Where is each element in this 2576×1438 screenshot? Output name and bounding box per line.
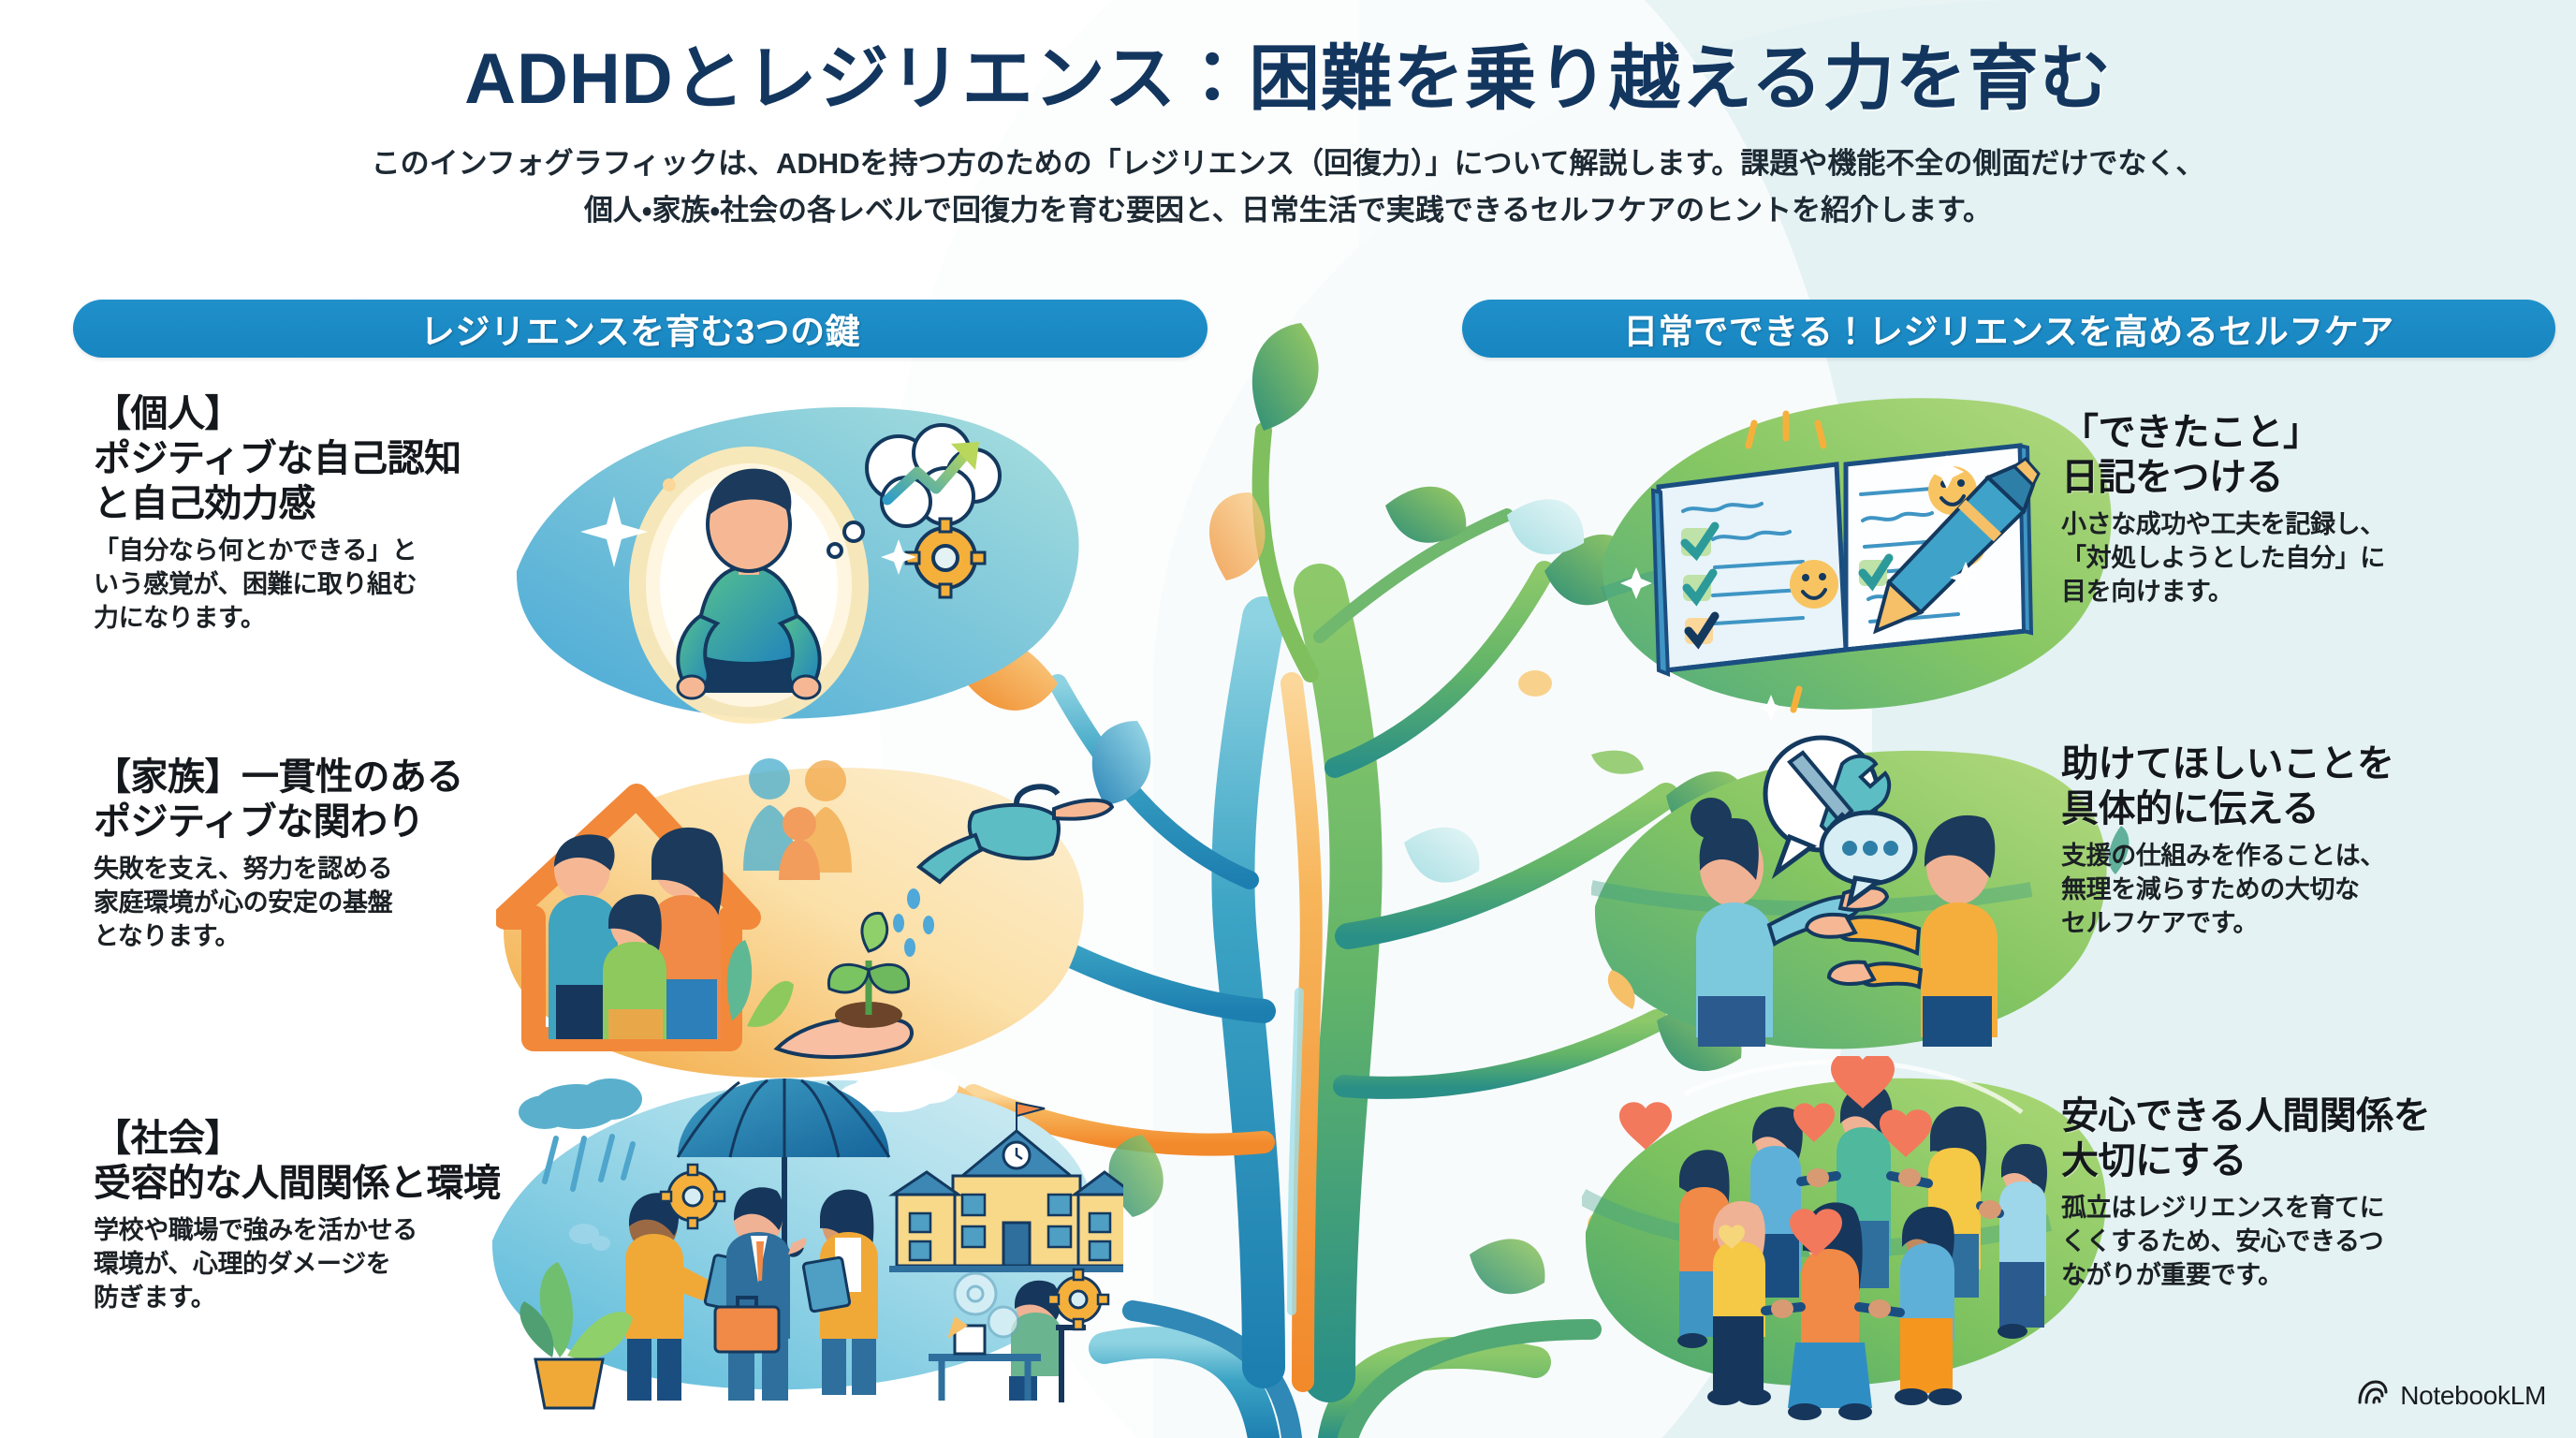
illustration-safe-relationships <box>1582 1056 2144 1421</box>
subtitle-line-1: このインフォグラフィックは、ADHDを持つ方のための「レジリエンス（回復力）」に… <box>202 140 2374 187</box>
card-individual-heading: 【個人】ポジティブな自己認知と自己効力感 <box>94 391 599 526</box>
section-header-left: レジリエンスを育む3つの鍵 <box>73 300 1207 358</box>
card-relationships-heading: 安心できる人間関係を大切にする <box>2061 1093 2548 1183</box>
card-ask-help: 助けてほしいことを具体的に伝える 支援の仕組みを作ることは、無理を減らすための大… <box>2061 741 2548 941</box>
notebooklm-logo-icon <box>2357 1379 2389 1412</box>
card-journal-heading: 「できたこと」日記をつける <box>2061 410 2548 500</box>
section-header-right: 日常でできる！レジリエンスを高めるセルフケア <box>1462 300 2555 358</box>
illustration-success-journal <box>1591 373 2134 738</box>
card-individual: 【個人】ポジティブな自己認知と自己効力感 「自分なら何とかできる」という感覚が、… <box>94 391 599 636</box>
card-family: 【家族】一貫性のあるポジティブな関わり 失敗を支え、努力を認める家庭環境が心の安… <box>94 755 599 954</box>
card-society: 【社会】受容的な人間関係と環境 学校や職場で強みを活かせる環境が、心理的ダメージ… <box>94 1116 599 1315</box>
card-individual-body: 「自分なら何とかできる」という感覚が、困難に取り組む力になります。 <box>94 535 599 636</box>
card-ask-help-heading: 助けてほしいことを具体的に伝える <box>2061 741 2548 831</box>
card-ask-help-body: 支援の仕組みを作ることは、無理を減らすための大切なセルフケアです。 <box>2061 840 2548 941</box>
page-title: ADHDとレジリエンス：困難を乗り越える力を育む <box>0 21 2576 124</box>
page-subtitle: このインフォグラフィックは、ADHDを持つ方のための「レジリエンス（回復力）」に… <box>202 140 2374 234</box>
notebooklm-watermark: NotebookLM <box>2357 1379 2546 1412</box>
card-family-body: 失敗を支え、努力を認める家庭環境が心の安定の基盤となります。 <box>94 853 599 954</box>
illustration-asking-for-help <box>1591 728 2134 1075</box>
subtitle-line-2: 個人・家族・社会の各レベルで回復力を育む要因と、日常生活で実践できるセルフケアの… <box>202 187 2374 234</box>
card-journal-body: 小さな成功や工夫を記録し、「対処しようとした自分」に目を向けます。 <box>2061 508 2548 609</box>
card-relationships-body: 孤立はレジリエンスを育てにくくするため、安心できるつながりが重要です。 <box>2061 1192 2548 1293</box>
card-family-heading: 【家族】一貫性のあるポジティブな関わり <box>94 755 599 844</box>
card-society-heading: 【社会】受容的な人間関係と環境 <box>94 1116 599 1206</box>
notebooklm-label: NotebookLM <box>2400 1381 2546 1411</box>
card-society-body: 学校や職場で強みを活かせる環境が、心理的ダメージを防ぎます。 <box>94 1214 599 1315</box>
card-journal: 「できたこと」日記をつける 小さな成功や工夫を記録し、「対処しようとした自分」に… <box>2061 410 2548 609</box>
card-relationships: 安心できる人間関係を大切にする 孤立はレジリエンスを育てにくくするため、安心でき… <box>2061 1093 2548 1293</box>
infographic-canvas: ADHDとレジリエンス：困難を乗り越える力を育む このインフォグラフィックは、A… <box>0 0 2576 1438</box>
